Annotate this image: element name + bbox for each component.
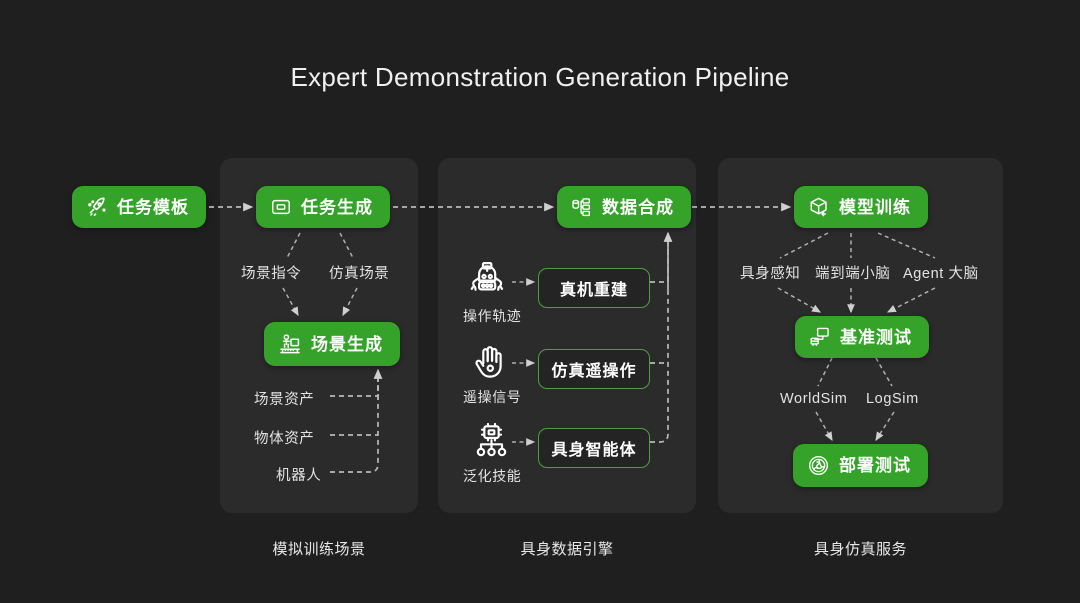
node-data-synthesis[interactable]: 数据合成 (557, 186, 691, 228)
page-title: Expert Demonstration Generation Pipeline (0, 62, 1080, 93)
label-embodied-perception: 具身感知 (740, 262, 800, 283)
caption-embodied-sim-service: 具身仿真服务 (718, 538, 1003, 559)
node-label: 基准测试 (840, 329, 912, 346)
node-label: 模型训练 (839, 199, 911, 216)
robot-icon (470, 260, 512, 307)
cube-icon (808, 196, 830, 218)
caption-simulation-training: 模拟训练场景 (220, 538, 418, 559)
globe-icon (807, 454, 830, 477)
glove-icon (470, 342, 512, 389)
label-operation-trajectory: 操作轨迹 (463, 306, 521, 326)
node-label: 数据合成 (602, 199, 674, 216)
scene-robot-icon (278, 332, 302, 356)
data-sync-icon (571, 196, 593, 218)
flowchart-icon (270, 196, 292, 218)
label-worldsim: WorldSim (780, 391, 847, 407)
node-benchmark-test[interactable]: 基准测试 (795, 316, 929, 358)
box-embodied-agent[interactable]: 具身智能体 (538, 428, 650, 468)
monitor-icon (809, 326, 831, 348)
label-simulation-scene: 仿真场景 (329, 262, 389, 283)
node-label: 部署测试 (839, 457, 911, 474)
box-simulated-teleoperation[interactable]: 仿真遥操作 (538, 349, 650, 389)
label-agent-brain: Agent 大脑 (903, 262, 979, 283)
caption-embodied-data-engine: 具身数据引擎 (438, 538, 696, 559)
label-logsim: LogSim (866, 391, 919, 407)
node-label: 任务模板 (117, 199, 189, 216)
node-scene-generation[interactable]: 场景生成 (264, 322, 400, 366)
label-scene-instruction: 场景指令 (241, 262, 301, 283)
label-object-assets: 物体资产 (254, 427, 314, 448)
box-real-machine-reconstruction[interactable]: 真机重建 (538, 268, 650, 308)
chip-network-icon (472, 422, 512, 467)
label-teleoperation-signal: 遥操信号 (463, 387, 521, 407)
node-label: 场景生成 (311, 336, 383, 353)
node-deployment-test[interactable]: 部署测试 (793, 444, 928, 487)
label-generalization-skills: 泛化技能 (463, 466, 521, 486)
node-label: 任务生成 (301, 199, 373, 216)
node-model-training[interactable]: 模型训练 (794, 186, 928, 228)
node-task-generation[interactable]: 任务生成 (256, 186, 390, 228)
node-task-template[interactable]: 任务模板 (72, 186, 206, 228)
label-scene-assets: 场景资产 (254, 388, 314, 409)
pipeline-diagram: Expert Demonstration Generation Pipeline (0, 0, 1080, 603)
label-robot: 机器人 (276, 464, 321, 485)
rocket-icon (86, 196, 108, 218)
label-end-to-end-cerebellum: 端到端小脑 (815, 262, 891, 283)
